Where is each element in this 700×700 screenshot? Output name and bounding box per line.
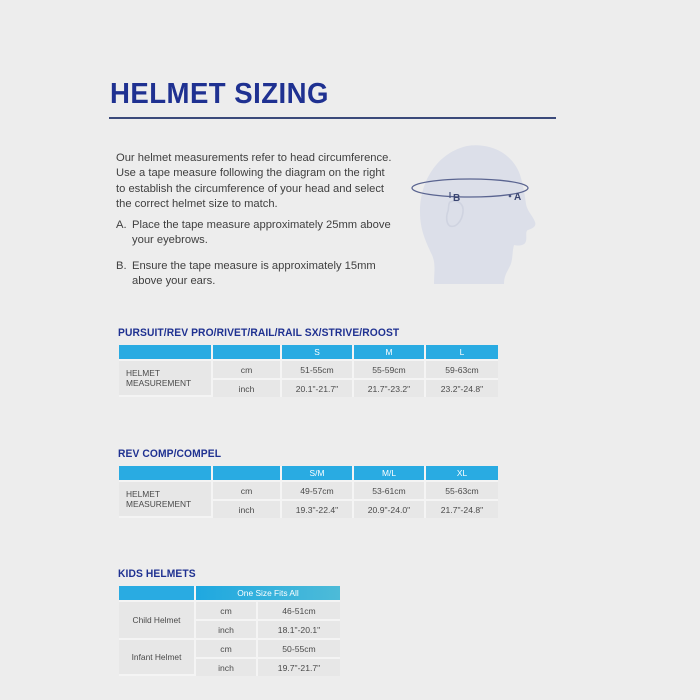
row-label-child-helmet: Child Helmet [119,602,196,640]
table-row: HELMET MEASUREMENT cm 51-55cm 55-59cm 59… [119,361,498,380]
head-diagram: B A [404,142,556,284]
unit-cell-cm: cm [213,482,282,501]
value-cm-m: 55-59cm [354,361,426,380]
value-inch-xl: 21.7"-24.8" [426,501,498,518]
value-infant-cm: 50-55cm [258,640,340,659]
value-inch-s: 20.1"-21.7" [282,380,354,397]
label-a-text: A [514,192,521,203]
value-child-inch: 18.1"-20.1" [258,621,340,640]
value-inch-m: 21.7"-23.2" [354,380,426,397]
value-cm-ml: 53-61cm [354,482,426,501]
table-row: Infant Helmet cm 50-55cm [119,640,340,659]
value-cm-l: 59-63cm [426,361,498,380]
header-cell-sm: S/M [282,466,354,482]
header-cell-blank-1 [119,466,213,482]
step-b: B. Ensure the tape measure is approximat… [116,259,406,290]
header-cell-xl: XL [426,466,498,482]
section-heading-pursuit: PURSUIT/REV PRO/RIVET/RAIL/RAIL SX/STRIV… [118,327,399,339]
unit-cell-inch: inch [213,501,282,518]
step-a: A. Place the tape measure approximately … [116,218,406,249]
helmet-sizing-page: HELMET SIZING Our helmet measurements re… [0,0,700,700]
value-child-cm: 46-51cm [258,602,340,621]
header-cell-ml: M/L [354,466,426,482]
value-inch-ml: 20.9"-24.0" [354,501,426,518]
header-cell-blank-2 [213,345,282,361]
sizing-table-pursuit: S M L HELMET MEASUREMENT cm 51-55cm 55-5… [119,345,498,397]
page-title: HELMET SIZING [110,78,329,111]
section-heading-rev-comp: REV COMP/COMPEL [118,448,221,460]
table-row: Child Helmet cm 46-51cm [119,602,340,621]
table-row: HELMET MEASUREMENT cm 49-57cm 53-61cm 55… [119,482,498,501]
header-cell-s: S [282,345,354,361]
unit-cell-inch: inch [213,380,282,397]
header-cell-l: L [426,345,498,361]
intro-paragraph: Our helmet measurements refer to head ci… [116,151,397,212]
head-silhouette [420,145,535,284]
row-label-helmet-measurement: HELMET MEASUREMENT [119,482,213,518]
header-cell-one-size-fits-all: One Size Fits All [196,586,340,602]
title-divider [109,117,556,119]
section-heading-kids: KIDS HELMETS [118,568,196,580]
value-cm-xl: 55-63cm [426,482,498,501]
sizing-table-rev-comp: S/M M/L XL HELMET MEASUREMENT cm 49-57cm… [119,466,498,518]
table-header-row: S M L [119,345,498,361]
table-header-row: S/M M/L XL [119,466,498,482]
table-header-row: One Size Fits All [119,586,340,602]
unit-cell-inch: inch [196,659,258,676]
step-a-letter: A. [116,218,132,249]
step-b-letter: B. [116,259,132,290]
step-b-text: Ensure the tape measure is approximately… [132,259,406,290]
unit-cell-cm: cm [196,602,258,621]
unit-cell-inch: inch [196,621,258,640]
label-b-text: B [453,193,460,204]
value-cm-sm: 49-57cm [282,482,354,501]
step-a-text: Place the tape measure approximately 25m… [132,218,406,249]
row-label-infant-helmet: Infant Helmet [119,640,196,676]
header-cell-blank-2 [213,466,282,482]
row-label-helmet-measurement: HELMET MEASUREMENT [119,361,213,397]
header-cell-m: M [354,345,426,361]
value-infant-inch: 19.7"-21.7" [258,659,340,676]
sizing-table-kids: One Size Fits All Child Helmet cm 46-51c… [119,586,340,676]
value-inch-sm: 19.3"-22.4" [282,501,354,518]
unit-cell-cm: cm [213,361,282,380]
unit-cell-cm: cm [196,640,258,659]
value-inch-l: 23.2"-24.8" [426,380,498,397]
tick-a [509,195,512,198]
header-cell-blank-1 [119,345,213,361]
header-cell-blank [119,586,196,602]
measurement-steps: A. Place the tape measure approximately … [116,218,406,299]
value-cm-s: 51-55cm [282,361,354,380]
